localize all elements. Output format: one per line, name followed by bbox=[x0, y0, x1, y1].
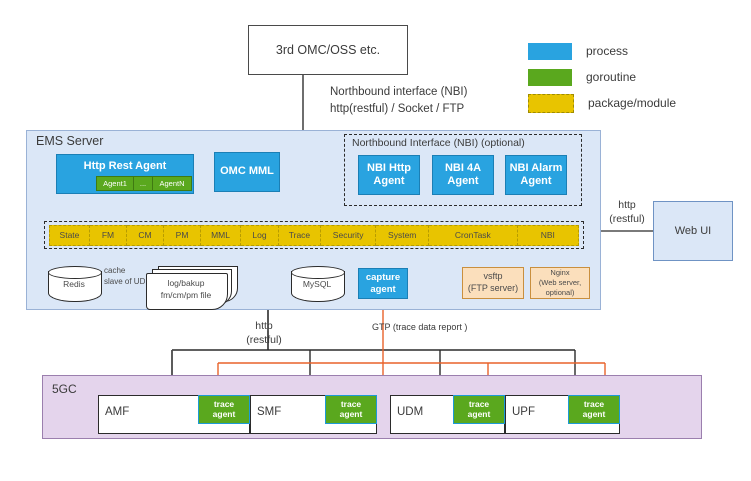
capture-agent-label-line2: agent bbox=[370, 284, 395, 295]
capture-agent-label-line1: capture bbox=[366, 272, 400, 283]
module-log[interactable]: Log bbox=[241, 225, 279, 246]
goroutine-agent-ellipsis: ... bbox=[134, 176, 152, 191]
module-bar: State FM CM PM MML Log Trace Security Sy… bbox=[44, 221, 584, 249]
smf-label: SMF bbox=[257, 406, 281, 418]
udm-trace-agent[interactable]: trace agent bbox=[453, 395, 505, 424]
capture-agent-process[interactable]: capture agent bbox=[358, 268, 408, 299]
vsftp-label-line1: vsftp bbox=[483, 271, 502, 283]
webui-link-label-line1: http bbox=[603, 199, 651, 213]
nbi-alarm-agent-process[interactable]: NBI Alarm Agent bbox=[505, 155, 567, 195]
webui-link-label-line2: (restful) bbox=[603, 213, 651, 227]
nginx-label-line2: (Web server, bbox=[539, 278, 581, 288]
third-party-omc-oss-box[interactable]: 3rd OMC/OSS etc. bbox=[248, 25, 408, 75]
upf-trace-agent-line2: agent bbox=[583, 410, 606, 420]
network-function-amf[interactable]: AMF trace agent bbox=[98, 395, 250, 434]
udm-label: UDM bbox=[397, 406, 423, 418]
legend-swatch-package-icon bbox=[528, 94, 574, 113]
web-ui-label: Web UI bbox=[675, 225, 711, 237]
log-backup-line1: log/bakup bbox=[150, 277, 222, 289]
log-backup-files[interactable]: log/bakup fm/cm/pm file bbox=[146, 266, 238, 308]
northbound-interface-caption: Northbound interface (NBI) http(restful)… bbox=[330, 84, 467, 117]
legend-label-goroutine: goroutine bbox=[586, 70, 636, 84]
module-crontask[interactable]: CronTask bbox=[429, 225, 518, 246]
nginx-server-box[interactable]: Nginx (Web server, optional) bbox=[530, 267, 590, 299]
module-state[interactable]: State bbox=[49, 225, 90, 246]
webui-link-label: http (restful) bbox=[603, 199, 651, 226]
legend: process goroutine package/module bbox=[528, 38, 743, 116]
http-restful-bus-label: http (restful) bbox=[240, 320, 288, 347]
redis-cache-note-line1: cache bbox=[104, 266, 152, 277]
log-backup-labels: log/bakup fm/cm/pm file bbox=[150, 277, 222, 302]
amf-trace-agent[interactable]: trace agent bbox=[198, 395, 250, 424]
redis-datastore[interactable]: Redis bbox=[48, 266, 100, 302]
module-trace[interactable]: Trace bbox=[279, 225, 321, 246]
vsftp-server-box[interactable]: vsftp (FTP server) bbox=[462, 267, 524, 299]
http-rest-agent-label: Http Rest Agent bbox=[84, 160, 167, 173]
mysql-label: MySQL bbox=[291, 279, 343, 289]
redis-cylinder-top-icon bbox=[48, 266, 102, 279]
nbi-alarm-agent-label-line1: NBI Alarm bbox=[510, 162, 563, 175]
amf-label: AMF bbox=[105, 406, 129, 418]
network-function-upf[interactable]: UPF trace agent bbox=[505, 395, 620, 434]
legend-item-package: package/module bbox=[528, 90, 743, 116]
smf-trace-agent[interactable]: trace agent bbox=[325, 395, 377, 424]
mysql-datastore[interactable]: MySQL bbox=[291, 266, 343, 302]
vsftp-label-line2: (FTP server) bbox=[468, 283, 518, 295]
smf-trace-agent-line2: agent bbox=[340, 410, 363, 420]
http-restful-bus-label-line1: http bbox=[240, 320, 288, 334]
module-mml[interactable]: MML bbox=[201, 225, 241, 246]
upf-trace-agent[interactable]: trace agent bbox=[568, 395, 620, 424]
upf-label: UPF bbox=[512, 406, 535, 418]
nbi-http-agent-label-line1: NBI Http bbox=[367, 162, 411, 175]
redis-cache-note-line2: slave of UDM bbox=[104, 277, 152, 288]
amf-trace-agent-line2: agent bbox=[213, 410, 236, 420]
module-cm[interactable]: CM bbox=[127, 225, 164, 246]
http-restful-bus-label-line2: (restful) bbox=[240, 334, 288, 348]
ems-server-title: EMS Server bbox=[36, 134, 103, 148]
module-system[interactable]: System bbox=[376, 225, 429, 246]
redis-label: Redis bbox=[48, 279, 100, 289]
gtp-bus-label: GTP (trace data report ) bbox=[372, 322, 467, 332]
redis-cache-note: cache slave of UDM bbox=[104, 266, 152, 288]
nbi-http-agent-process[interactable]: NBI Http Agent bbox=[358, 155, 420, 195]
module-fm[interactable]: FM bbox=[90, 225, 127, 246]
mysql-cylinder-top-icon bbox=[291, 266, 345, 279]
nbi-alarm-agent-label-line2: Agent bbox=[520, 175, 551, 188]
omc-mml-process[interactable]: OMC MML bbox=[214, 152, 280, 192]
module-pm[interactable]: PM bbox=[164, 225, 201, 246]
nbi-group-title: Northbound Interface (NBI) (optional) bbox=[352, 137, 525, 149]
goroutine-agents-row: Agent1 ... AgentN bbox=[96, 176, 192, 191]
network-function-smf[interactable]: SMF trace agent bbox=[250, 395, 377, 434]
nbi-caption-line1: Northbound interface (NBI) bbox=[330, 84, 467, 101]
5gc-title: 5GC bbox=[52, 382, 77, 396]
legend-label-package: package/module bbox=[588, 96, 676, 110]
http-rest-agent-process[interactable]: Http Rest Agent Agent1 ... AgentN bbox=[56, 154, 194, 194]
nbi-caption-line2: http(restful) / Socket / FTP bbox=[330, 101, 467, 118]
nbi-http-agent-label-line2: Agent bbox=[373, 175, 404, 188]
web-ui-box[interactable]: Web UI bbox=[653, 201, 733, 261]
log-backup-line2: fm/cm/pm file bbox=[150, 289, 222, 301]
nginx-label-line1: Nginx bbox=[550, 268, 569, 278]
nbi-4a-agent-process[interactable]: NBI 4A Agent bbox=[432, 155, 494, 195]
module-security[interactable]: Security bbox=[321, 225, 377, 246]
legend-swatch-goroutine-icon bbox=[528, 69, 572, 86]
legend-label-process: process bbox=[586, 44, 628, 58]
legend-item-goroutine: goroutine bbox=[528, 64, 743, 90]
goroutine-agent1[interactable]: Agent1 bbox=[96, 176, 134, 191]
udm-trace-agent-line2: agent bbox=[468, 410, 491, 420]
third-party-omc-oss-label: 3rd OMC/OSS etc. bbox=[276, 43, 380, 57]
legend-item-process: process bbox=[528, 38, 743, 64]
legend-swatch-process-icon bbox=[528, 43, 572, 60]
omc-mml-label: OMC MML bbox=[220, 165, 274, 178]
nbi-4a-agent-label-line1: NBI 4A bbox=[445, 162, 481, 175]
goroutine-agentn[interactable]: AgentN bbox=[152, 176, 192, 191]
network-function-udm[interactable]: UDM trace agent bbox=[390, 395, 505, 434]
module-nbi[interactable]: NBI bbox=[518, 225, 579, 246]
nginx-label-line3: optional) bbox=[546, 288, 575, 298]
nbi-4a-agent-label-line2: Agent bbox=[447, 175, 478, 188]
